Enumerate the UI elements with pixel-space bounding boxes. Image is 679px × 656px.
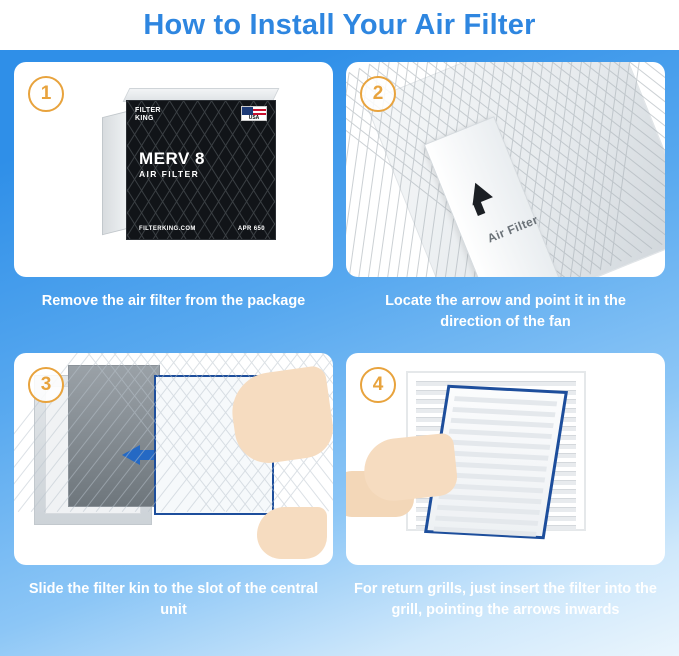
- usa-label: USA: [242, 115, 266, 121]
- step-3-number-badge: 3: [28, 367, 64, 403]
- brand-logo: FILTER KING: [135, 107, 161, 123]
- infographic-page: How to Install Your Air Filter 1 FILTER …: [0, 0, 679, 656]
- step-2-number-badge: 2: [360, 76, 396, 112]
- step-1-image: 1 FILTER KING: [14, 62, 333, 277]
- usa-flag-icon: USA: [241, 106, 267, 121]
- website-text: FILTERKING.COM: [139, 226, 196, 232]
- step-4-image: 4: [346, 353, 665, 565]
- model-subtitle: AIR FILTER: [139, 169, 199, 179]
- hand-lower: [257, 507, 327, 559]
- step-1-caption: Remove the air filter from the package: [14, 291, 333, 312]
- step-2-image: 2 Air Filter: [346, 62, 665, 277]
- brand-line-2: KING: [135, 115, 154, 122]
- step-2-caption: Locate the arrow and point it in the dir…: [346, 291, 665, 333]
- step-card-4: 4 For return grills, just insert the fil…: [346, 353, 665, 643]
- step-card-1: 1 FILTER KING: [14, 62, 333, 350]
- model-name: MERV 8: [139, 149, 205, 169]
- box-side-face: [102, 111, 128, 235]
- step-3-image: 3: [14, 353, 333, 565]
- step-3-caption: Slide the filter kin to the slot of the …: [14, 579, 333, 621]
- step-card-3: 3 Slide the filter kin to the slot of th…: [14, 353, 333, 643]
- box-front-face: FILTER KING USA MERV 8 AIR FILTER: [126, 100, 276, 240]
- brand-line-1: FILTER: [135, 107, 161, 114]
- step-card-2: 2 Air Filter Locate the arrow and point …: [346, 62, 665, 350]
- spec-text: APR 650: [238, 226, 265, 232]
- box-footer: FILTERKING.COM APR 650: [139, 226, 265, 232]
- step-4-caption: For return grills, just insert the filte…: [346, 579, 665, 621]
- page-title: How to Install Your Air Filter: [143, 9, 535, 42]
- step-1-number-badge: 1: [28, 76, 64, 112]
- header-bar: How to Install Your Air Filter: [0, 0, 679, 50]
- step-4-number-badge: 4: [360, 367, 396, 403]
- hand-holding-panel: [361, 432, 459, 503]
- steps-grid: 1 FILTER KING: [14, 62, 665, 642]
